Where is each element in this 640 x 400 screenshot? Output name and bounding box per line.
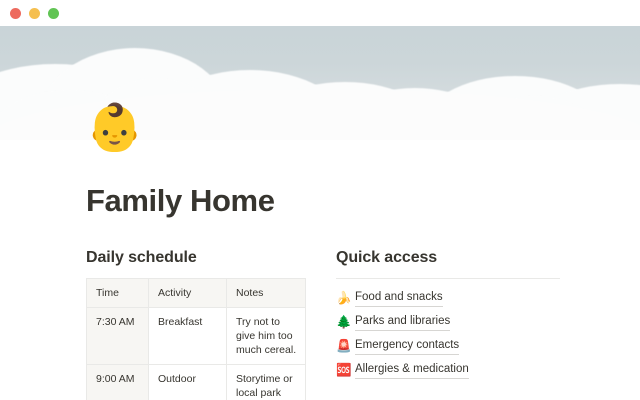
window-traffic-lights — [10, 8, 59, 19]
daily-schedule-column: Daily schedule Time Activity Notes — [86, 248, 336, 400]
cell-notes[interactable]: Storytime or local park — [227, 365, 306, 400]
table-row[interactable]: 9:00 AM Outdoor Storytime or local park — [87, 365, 306, 400]
emergency-light-icon: 🚨 — [336, 337, 355, 354]
quick-access-item-parks[interactable]: 🌲 Parks and libraries — [336, 313, 566, 330]
content-columns: Daily schedule Time Activity Notes — [80, 248, 560, 400]
cell-time[interactable]: 9:00 AM — [87, 365, 149, 400]
table-row[interactable]: 7:30 AM Breakfast Try not to give him to… — [87, 308, 306, 365]
table-header-row: Time Activity Notes — [87, 279, 306, 308]
minimize-window-button[interactable] — [29, 8, 40, 19]
evergreen-tree-icon: 🌲 — [336, 313, 355, 330]
quick-access-column: Quick access 🍌 Food and snacks 🌲 Parks a… — [336, 248, 566, 400]
quick-access-heading: Quick access — [336, 248, 566, 268]
page-icon[interactable]: 👶 — [86, 104, 143, 150]
quick-access-list: 🍌 Food and snacks 🌲 Parks and libraries … — [336, 289, 566, 378]
banana-icon: 🍌 — [336, 289, 355, 306]
window-titlebar — [0, 0, 640, 26]
quick-access-label[interactable]: Food and snacks — [355, 289, 443, 307]
close-window-button[interactable] — [10, 8, 21, 19]
quick-access-label[interactable]: Emergency contacts — [355, 337, 459, 355]
cell-activity[interactable]: Outdoor — [149, 365, 227, 400]
column-header-notes[interactable]: Notes — [227, 279, 306, 308]
page-title[interactable]: Family Home — [80, 140, 560, 220]
quick-access-label[interactable]: Allergies & medication — [355, 361, 469, 379]
cell-activity[interactable]: Breakfast — [149, 308, 227, 365]
page-content: 👶 Family Home Daily schedule Time — [0, 140, 640, 400]
cell-time[interactable]: 7:30 AM — [87, 308, 149, 365]
daily-schedule-table[interactable]: Time Activity Notes 7:30 AM Breakfast Tr… — [86, 278, 306, 400]
daily-schedule-heading: Daily schedule — [86, 248, 336, 268]
quick-access-divider — [336, 278, 560, 279]
cell-notes[interactable]: Try not to give him too much cereal. — [227, 308, 306, 365]
column-header-activity[interactable]: Activity — [149, 279, 227, 308]
sos-icon: 🆘 — [336, 361, 355, 378]
column-header-time[interactable]: Time — [87, 279, 149, 308]
maximize-window-button[interactable] — [48, 8, 59, 19]
quick-access-label[interactable]: Parks and libraries — [355, 313, 450, 331]
browser-window: 👶 Family Home Daily schedule Time — [0, 0, 640, 400]
quick-access-item-emergency[interactable]: 🚨 Emergency contacts — [336, 337, 566, 354]
quick-access-item-food[interactable]: 🍌 Food and snacks — [336, 289, 566, 306]
quick-access-item-allergies[interactable]: 🆘 Allergies & medication — [336, 361, 566, 378]
